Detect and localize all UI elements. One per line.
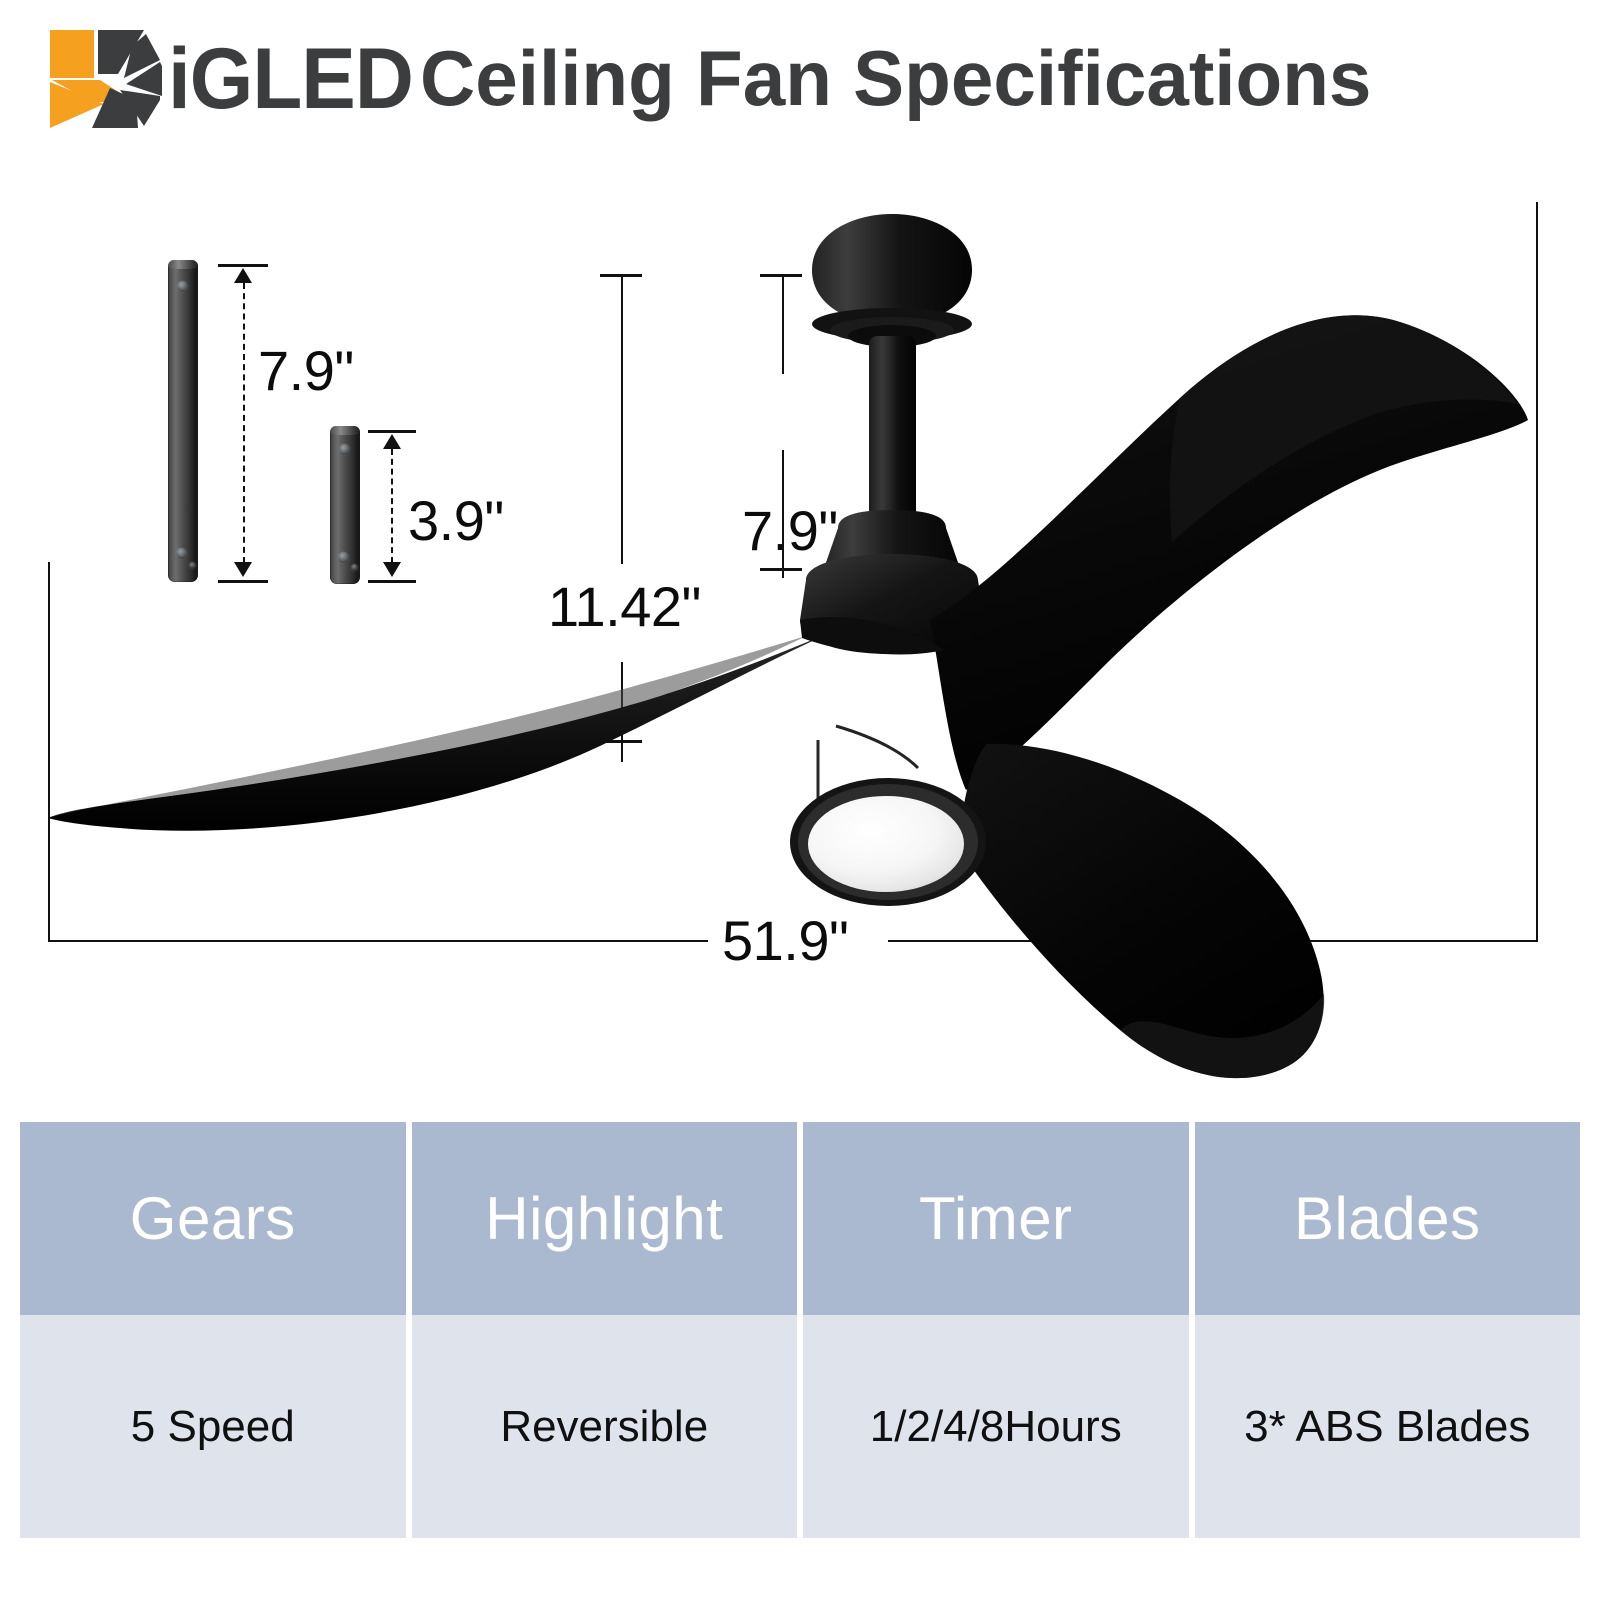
dim-label-downrod-long: 7.9" [258, 338, 354, 403]
dim-label-drop-height: 7.9" [742, 498, 838, 563]
table-header-timer: Timer [803, 1122, 1189, 1315]
downrod-screw-hole [189, 562, 196, 569]
table-cell-gears: 5 Speed [20, 1315, 406, 1538]
dim-tick [368, 430, 416, 433]
dim-extension-line [621, 662, 623, 762]
page-title: Ceiling Fan Specifications [420, 24, 1371, 132]
dim-tick [218, 264, 268, 267]
long-downrod-image [168, 260, 198, 582]
table-header-blades: Blades [1195, 1122, 1581, 1315]
dim-width-line-right [888, 940, 1538, 942]
brand-name: iGLED [168, 26, 413, 132]
dim-arrow-down-icon [383, 562, 401, 577]
table-cell-blades: 3* ABS Blades [1195, 1315, 1581, 1538]
dim-arrow-up-icon [234, 268, 252, 283]
dim-tick [368, 580, 416, 583]
table-header-gears: Gears [20, 1122, 406, 1315]
downrod-cap [168, 260, 198, 269]
dim-extension-line-left [48, 562, 50, 942]
dim-arrow-up-icon [383, 434, 401, 449]
short-downrod-image [330, 426, 360, 584]
table-cell-timer: 1/2/4/8Hours [803, 1315, 1189, 1538]
dim-label-total-height: 11.42" [548, 574, 701, 639]
dim-leader-line [243, 283, 245, 563]
dim-label-downrod-short: 3.9" [408, 488, 504, 553]
dim-extension-line-right [1536, 202, 1538, 942]
dim-extension-line [621, 274, 623, 564]
dim-extension-line [782, 274, 784, 374]
specification-table: Gears Highlight Timer Blades 5 Speed Rev… [20, 1122, 1580, 1538]
dim-extension-line [782, 450, 784, 578]
table-cell-highlight: Reversible [412, 1315, 798, 1538]
page-header: iGLED Ceiling Fan Specifications [0, 0, 1600, 150]
aperture-d-logo-icon [48, 26, 166, 132]
dim-arrow-down-icon [234, 562, 252, 577]
fan-dimension-diagram: 7.9" 3.9" 11.42" 7.9" 51.9" [0, 150, 1600, 1080]
downrod-screw-hole [177, 281, 188, 292]
table-header-highlight: Highlight [412, 1122, 798, 1315]
dim-width-line-left [48, 940, 708, 942]
dim-tick [760, 274, 802, 277]
downrod-screw-hole [338, 552, 349, 563]
dim-label-blade-span: 51.9" [722, 908, 848, 973]
dim-leader-line [391, 449, 393, 563]
dim-tick [218, 580, 268, 583]
dim-tick [600, 740, 642, 743]
downrod-screw-hole [176, 548, 187, 559]
downrod-screw-hole [339, 444, 350, 455]
dim-tick [760, 568, 802, 571]
downrod-cap [330, 426, 360, 435]
downrod-screw-hole [351, 564, 358, 571]
